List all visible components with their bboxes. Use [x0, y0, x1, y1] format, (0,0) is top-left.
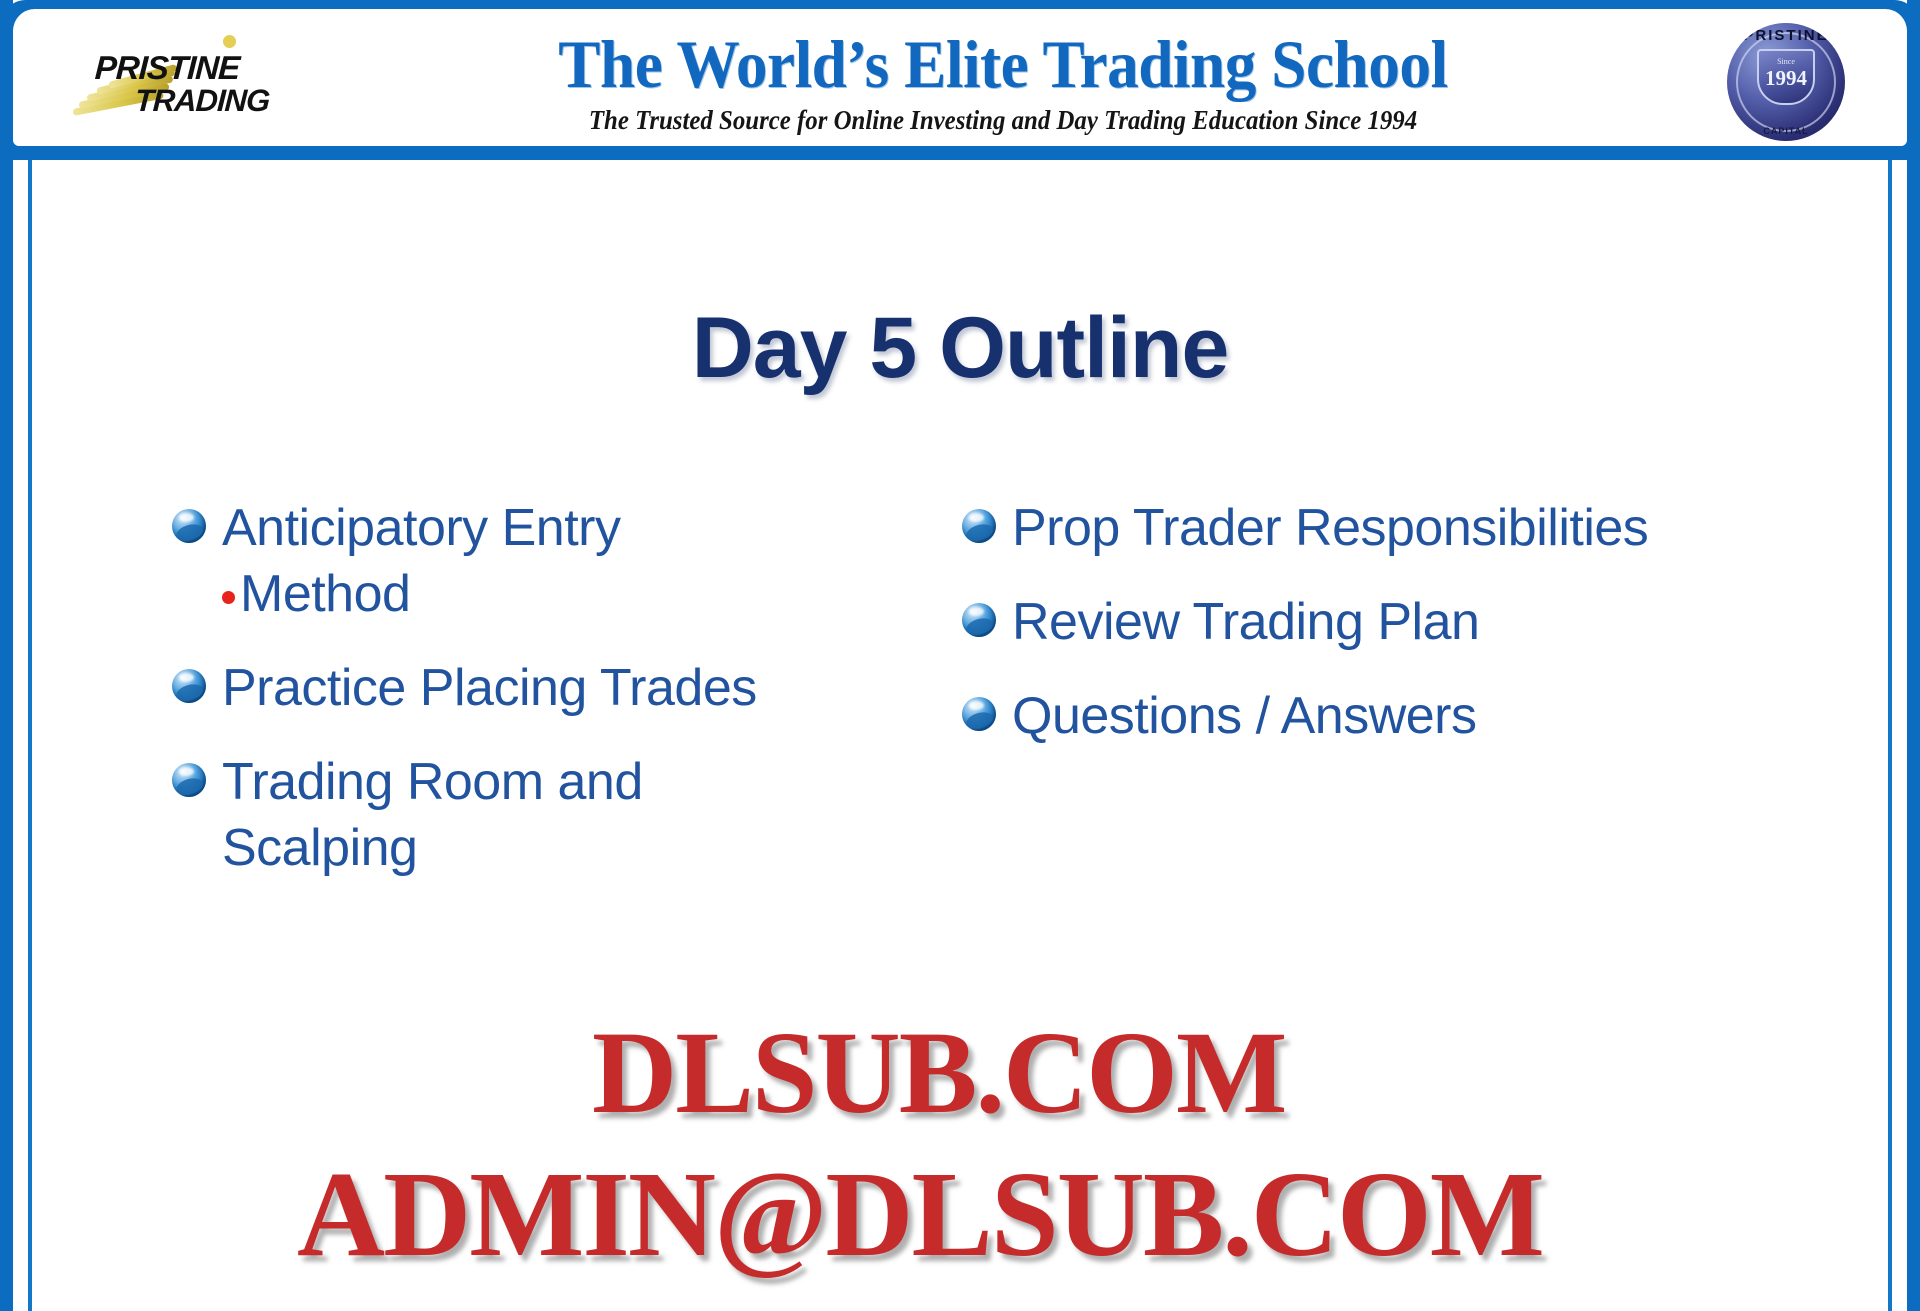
frame-rail-right-inner	[1888, 160, 1892, 1311]
slide-body: Day 5 Outline Anticipatory Entry Method	[32, 160, 1888, 1311]
sub-list-item-label: Method	[240, 561, 410, 627]
list-item: Trading Room and Scalping	[172, 749, 832, 881]
list-item-text: Anticipatory Entry	[222, 499, 621, 557]
frame-rail-right	[1907, 0, 1920, 1311]
header-title-block: The World’s Elite Trading School The Tru…	[383, 25, 1623, 137]
globe-bullet-icon	[962, 603, 996, 637]
red-dot-bullet-icon	[222, 591, 235, 604]
list-item: Anticipatory Entry Method	[172, 495, 832, 627]
list-item-label: Trading Room and Scalping	[222, 749, 662, 881]
seal-shield: Since 1994	[1757, 49, 1815, 105]
list-item: Review Trading Plan	[962, 589, 1888, 655]
globe-bullet-icon	[962, 509, 996, 543]
logo-gold-dot-icon	[223, 35, 236, 48]
presentation-slide: PRISTINE TRADING The World’s Elite Tradi…	[0, 0, 1920, 1311]
watermark-email: ADMIN@DLSUB.COM	[297, 1145, 1543, 1285]
sub-list-item: Method	[222, 561, 621, 627]
outline-columns: Anticipatory Entry Method Practice Placi…	[32, 495, 1888, 909]
list-item-label: Prop Trader Responsibilities	[1012, 495, 1648, 561]
list-item: Questions / Answers	[962, 683, 1888, 749]
slide-header-inner: PRISTINE TRADING The World’s Elite Tradi…	[13, 9, 1907, 146]
pristine-seal-badge-icon: PRISTINE Since 1994 CAPITAL	[1727, 23, 1845, 141]
list-item: Practice Placing Trades	[172, 655, 832, 721]
globe-bullet-icon	[962, 697, 996, 731]
frame-rail-left	[0, 0, 13, 1311]
list-item-label: Practice Placing Trades	[222, 655, 757, 721]
list-item-label: Questions / Answers	[1012, 683, 1477, 749]
watermark-site: DLSUB.COM	[592, 1005, 1285, 1141]
site-tagline: The Trusted Source for Online Investing …	[433, 103, 1574, 137]
seal-arc-top-label: PRISTINE	[1727, 27, 1845, 44]
seal-arc-bottom-label: CAPITAL	[1727, 126, 1845, 136]
globe-bullet-icon	[172, 669, 206, 703]
outline-column-left: Anticipatory Entry Method Practice Placi…	[32, 495, 832, 909]
logo-line1: PRISTINE	[94, 49, 240, 87]
seal-since-label: Since	[1759, 57, 1813, 66]
list-item: Prop Trader Responsibilities	[962, 495, 1888, 561]
list-item-label: Anticipatory Entry Method	[222, 495, 621, 627]
seal-year-label: 1994	[1759, 66, 1813, 91]
globe-bullet-icon	[172, 509, 206, 543]
slide-header: PRISTINE TRADING The World’s Elite Tradi…	[0, 0, 1920, 160]
site-title: The World’s Elite Trading School	[426, 25, 1579, 103]
logo-line2: TRADING	[134, 83, 270, 119]
outline-column-right: Prop Trader Responsibilities Review Trad…	[832, 495, 1888, 909]
list-item-label: Review Trading Plan	[1012, 589, 1479, 655]
globe-bullet-icon	[172, 763, 206, 797]
pristine-trading-logo: PRISTINE TRADING	[65, 35, 313, 127]
page-title: Day 5 Outline	[32, 300, 1888, 396]
